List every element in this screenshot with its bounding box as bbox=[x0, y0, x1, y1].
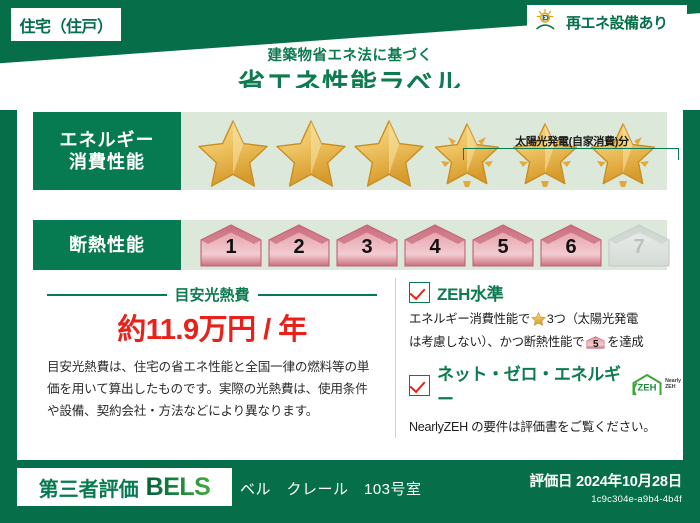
check-icon-netzero bbox=[409, 375, 430, 396]
category-chip-label: 住宅（住戸） bbox=[19, 13, 112, 37]
zeh-body-part3: を達成 bbox=[607, 335, 643, 349]
zeh-logo-sub-line2: ZEH bbox=[665, 384, 675, 390]
insulation-performance-row: 断熱性能 1 bbox=[33, 220, 667, 270]
star-1 bbox=[195, 115, 271, 187]
solar-bracket-line bbox=[463, 148, 679, 160]
insulation-level-6: 6 bbox=[537, 222, 605, 268]
renewable-equipment-badge: 再エネ設備あり bbox=[527, 5, 687, 39]
star-2 bbox=[273, 115, 349, 187]
inline-house-level-value: 5 bbox=[586, 337, 605, 353]
vertical-divider bbox=[395, 278, 396, 438]
evaluation-info: 評価日 2024年10月28日 1c9c304e-a9b4-4b4f bbox=[529, 470, 682, 505]
zeh-standard-title: ZEH水準 bbox=[437, 280, 504, 305]
insulation-level-7: 7 bbox=[605, 222, 673, 268]
energy-performance-key: エネルギー 消費性能 bbox=[33, 112, 181, 190]
property-name: ベル クレール 103号室 bbox=[240, 478, 422, 499]
bels-logo-jp: 第三者評価 bbox=[39, 473, 139, 502]
inline-house-badge-icon: 5 bbox=[586, 335, 605, 350]
category-chip: 住宅（住戸） bbox=[10, 7, 122, 42]
insulation-level-2: 2 bbox=[265, 222, 333, 268]
utility-cost-note: 目安光熱費は、住宅の省エネ性能と全国一律の燃料等の単価を用いて算出したものです。… bbox=[47, 356, 377, 422]
insulation-level-6-value: 6 bbox=[537, 236, 605, 259]
insulation-level-scale: 1 2 bbox=[181, 222, 673, 268]
evaluation-id: 1c9c304e-a9b4-4b4f bbox=[529, 494, 682, 505]
utility-cost-heading-label: 目安光熱費 bbox=[175, 284, 250, 305]
energy-key-line2: 消費性能 bbox=[69, 151, 145, 174]
zeh-standard-title-row: ZEH水準 bbox=[409, 280, 681, 305]
zeh-logo: ZEH Nearly ZEH bbox=[631, 373, 681, 397]
insulation-level-5-value: 5 bbox=[469, 236, 537, 259]
renewable-badge-label: 再エネ設備あり bbox=[566, 12, 668, 33]
energy-performance-row: エネルギー 消費性能 bbox=[33, 112, 667, 190]
insulation-levels-area: 1 2 bbox=[181, 220, 673, 270]
insulation-performance-key: 断熱性能 bbox=[33, 220, 181, 270]
solar-bracket-label: 太陽光発電(自家消費)分 bbox=[463, 133, 681, 149]
zeh-body-part2: は考慮しない）、かつ断熱性能で bbox=[409, 335, 584, 349]
zeh-standard-block: ZEH水準 エネルギー消費性能で 3つ（太陽光発電 は考慮しない）、かつ断熱性能… bbox=[409, 280, 681, 352]
solar-bracket-annotation: 太陽光発電(自家消費)分 bbox=[463, 134, 681, 162]
insulation-key-label: 断熱性能 bbox=[69, 234, 145, 257]
bels-energy-label: 住宅（住戸） 再エネ設備あり 建築物省エネ法に基づく 省エネ性能ラベル bbox=[0, 0, 700, 523]
bels-logo: 第三者評価 BELS bbox=[17, 468, 232, 506]
net-zero-title: ネット・ゼロ・エネルギー bbox=[437, 360, 624, 410]
utility-cost-heading: 目安光熱費 bbox=[47, 284, 377, 305]
insulation-level-4-value: 4 bbox=[401, 236, 469, 259]
net-zero-energy-block: ネット・ゼロ・エネルギー ZEH Nearly ZEH NearlyZEH の要… bbox=[409, 360, 681, 435]
insulation-level-2-value: 2 bbox=[265, 236, 333, 259]
inline-star-icon bbox=[531, 311, 546, 332]
insulation-level-1-value: 1 bbox=[197, 236, 265, 259]
check-icon-zeh bbox=[409, 282, 430, 303]
label-card: エネルギー 消費性能 bbox=[17, 88, 683, 460]
insulation-level-3-value: 3 bbox=[333, 236, 401, 259]
energy-key-line1: エネルギー bbox=[60, 129, 155, 152]
evaluation-date: 評価日 2024年10月28日 bbox=[529, 470, 682, 491]
zeh-standard-body: エネルギー消費性能で 3つ（太陽光発電 は考慮しない）、かつ断熱性能で 5 を達… bbox=[409, 309, 681, 352]
insulation-level-5: 5 bbox=[469, 222, 537, 268]
zeh-body-part1: エネルギー消費性能で bbox=[409, 312, 530, 326]
svg-text:ZEH: ZEH bbox=[638, 383, 657, 394]
heading-rule-right bbox=[258, 294, 378, 296]
bels-logo-en: BELS bbox=[146, 473, 211, 502]
star-3 bbox=[351, 115, 427, 187]
net-zero-body: NearlyZEH の要件は評価書をご覧ください。 bbox=[409, 416, 681, 435]
insulation-level-7-value: 7 bbox=[605, 236, 673, 259]
zeh-logo-sub: Nearly ZEH bbox=[665, 379, 681, 391]
insulation-level-1: 1 bbox=[197, 222, 265, 268]
utility-cost-amount: 約11.9万円 / 年 bbox=[47, 306, 377, 348]
zeh-body-star-count: 3つ（太陽光発電 bbox=[547, 312, 638, 326]
solar-sun-icon bbox=[535, 8, 561, 37]
insulation-level-3: 3 bbox=[333, 222, 401, 268]
heading-rule-left bbox=[47, 294, 167, 296]
net-zero-title-row: ネット・ゼロ・エネルギー ZEH Nearly ZEH bbox=[409, 360, 681, 410]
insulation-level-4: 4 bbox=[401, 222, 469, 268]
